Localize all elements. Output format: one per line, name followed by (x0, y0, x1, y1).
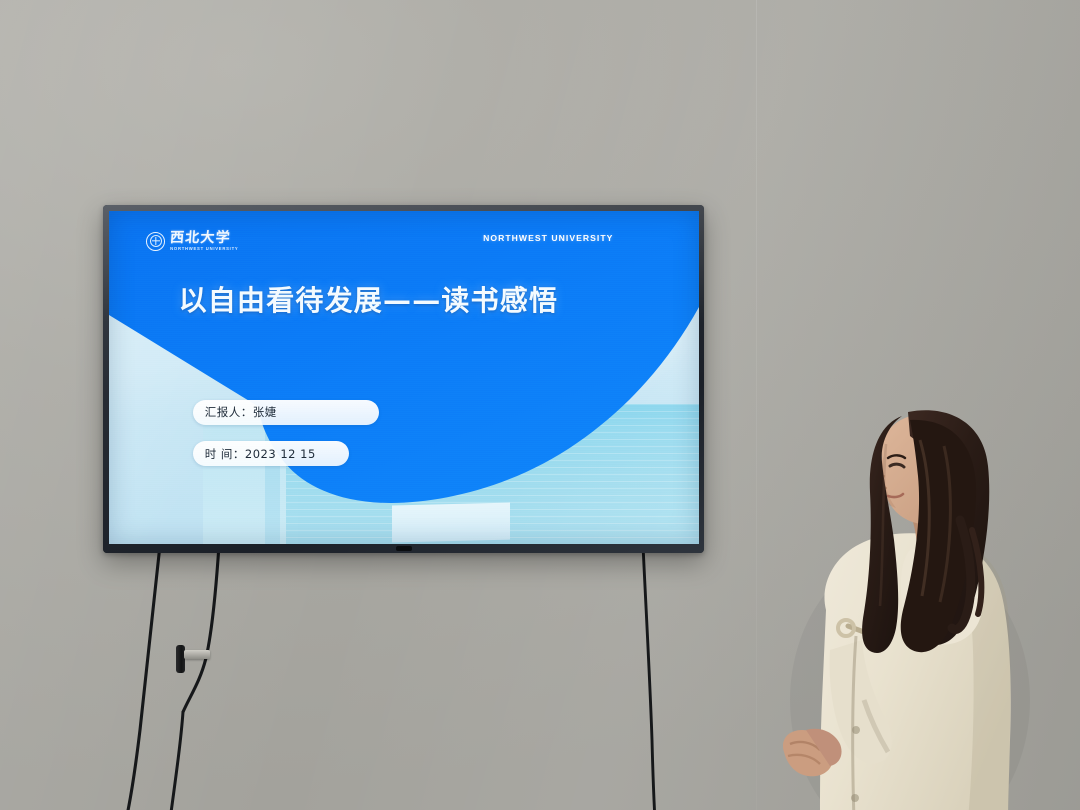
university-seal-icon (146, 232, 165, 251)
tv-screen[interactable]: 西北大学 NORTHWEST UNIVERSITY NORTHWEST UNIV… (109, 211, 699, 544)
presenter-pill: 汇报人：张婕 (193, 400, 379, 425)
university-logo: 西北大学 NORTHWEST UNIVERSITY (146, 231, 238, 251)
presenter-text: 汇报人：张婕 (193, 404, 277, 420)
tv-ir-sensor-icon (396, 546, 412, 551)
slide-title: 以自由看待发展——读书感悟 (179, 286, 559, 317)
slide-brand-text: NORTHWEST UNIVERSITY (483, 233, 613, 243)
slide-blue-shape (109, 211, 699, 544)
logo-name-en: NORTHWEST UNIVERSITY (170, 247, 238, 251)
photo-scene: 西北大学 NORTHWEST UNIVERSITY NORTHWEST UNIV… (0, 0, 1080, 810)
power-plug-pin (184, 650, 210, 659)
date-text: 时 间：2023 12 15 (193, 446, 316, 462)
power-plug-body (176, 645, 185, 673)
wall-mounted-tv: 西北大学 NORTHWEST UNIVERSITY NORTHWEST UNIV… (103, 205, 704, 553)
logo-name-cn: 西北大学 (170, 231, 239, 245)
date-pill: 时 间：2023 12 15 (193, 441, 349, 466)
presenter-person (760, 400, 1080, 810)
